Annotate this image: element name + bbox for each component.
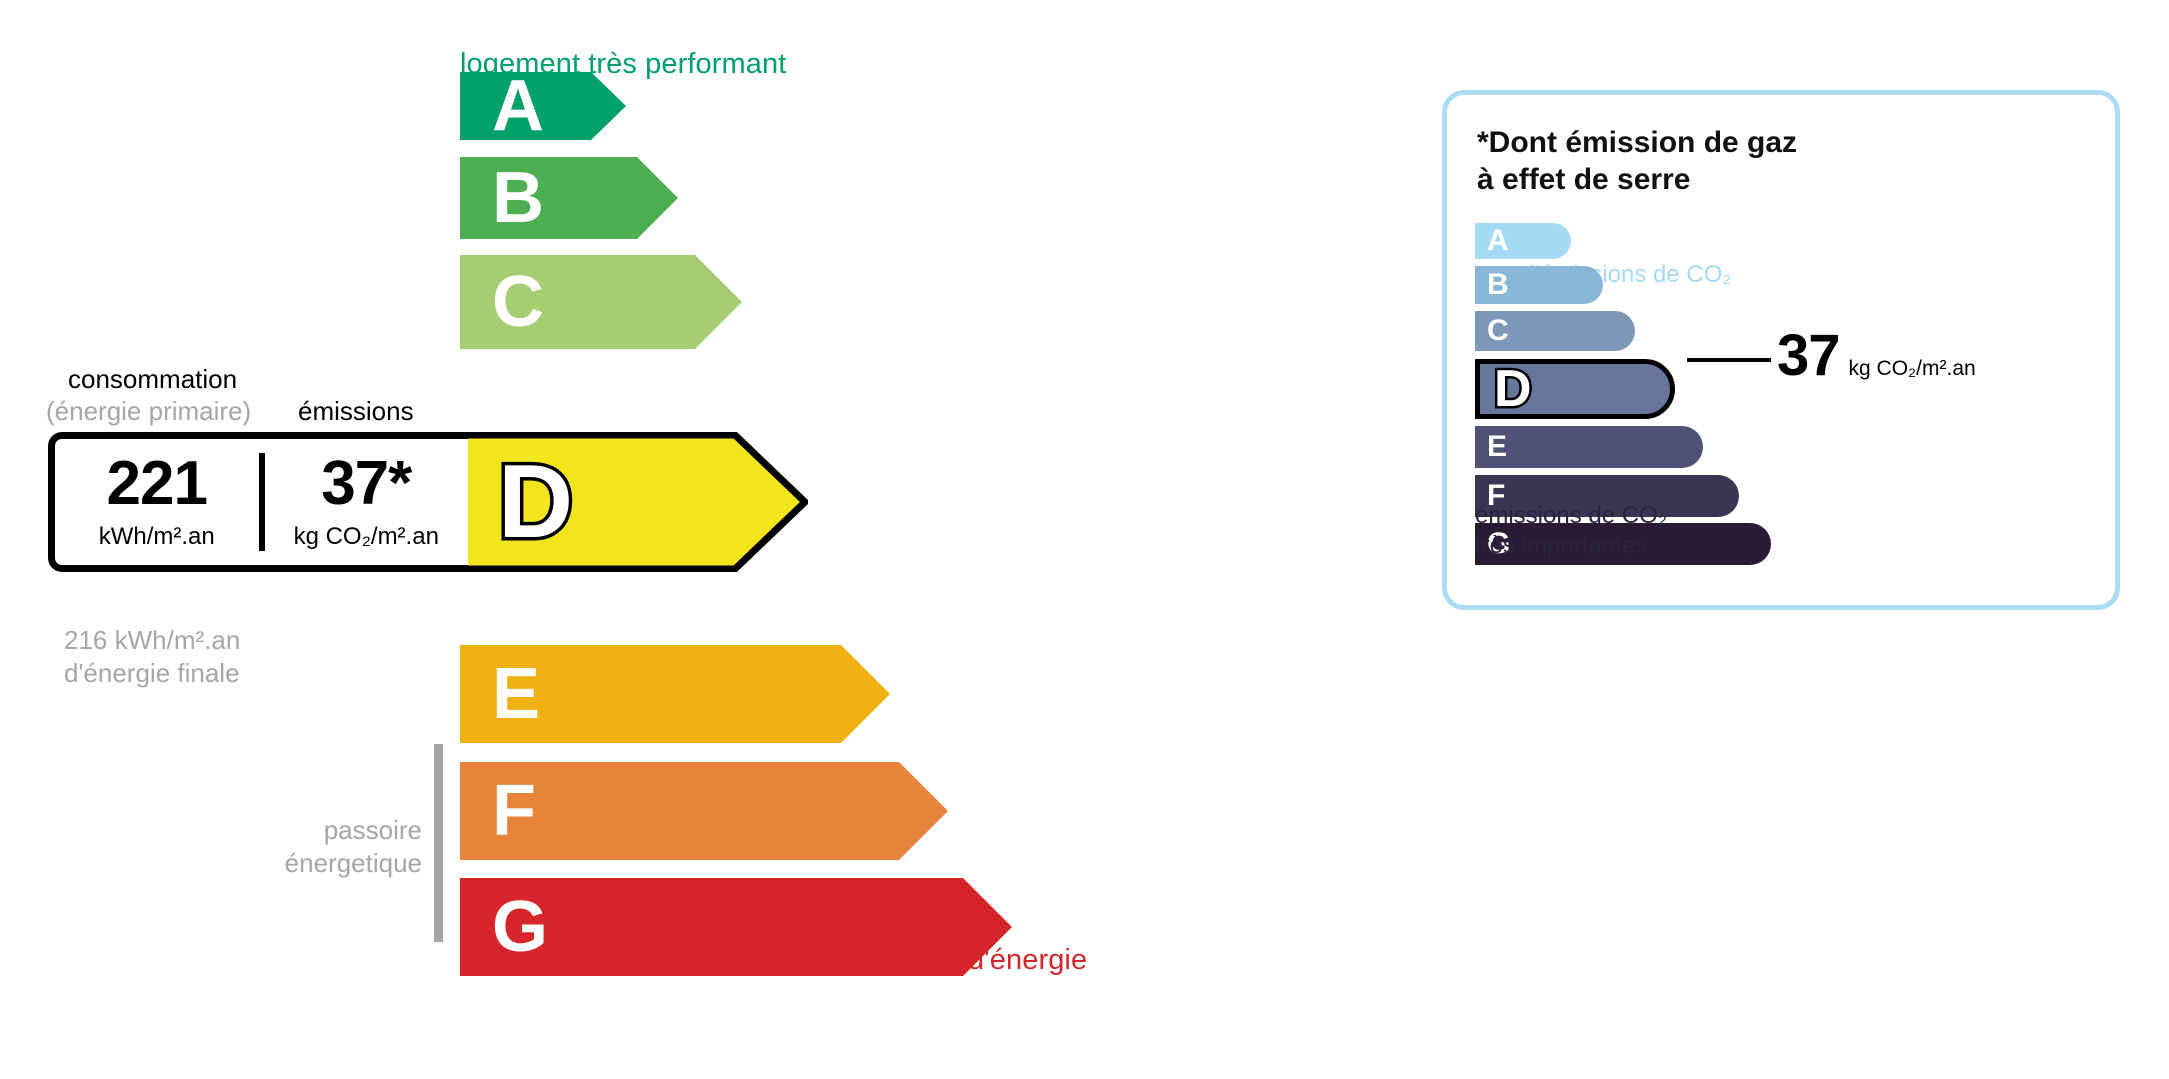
energy-performance-diagram: logement très performant A B [0, 0, 1400, 1079]
co2-letter-e: E [1487, 432, 1507, 462]
co2-letter-c: C [1487, 316, 1509, 346]
co2-letter-b: B [1487, 270, 1509, 300]
label-emissions: émissions [298, 396, 414, 427]
co2-callout-value: 37 [1777, 327, 1840, 385]
co2-bottom-caption: émissions de CO₂ très importantes [1475, 501, 1667, 561]
primary-energy-cell: 221 kWh/m².an [55, 439, 259, 565]
passoire-line1: passoire [200, 814, 422, 847]
energy-letter-a: A [492, 70, 544, 142]
co2-letter-d: D [1494, 363, 1532, 415]
energy-letter-d: D [498, 450, 573, 554]
energy-row-e[interactable]: E [460, 645, 890, 743]
primary-energy-value: 221 [107, 453, 207, 515]
co2-letter-a: A [1487, 226, 1509, 256]
emission-cell: 37* kg CO₂/m².an [265, 439, 469, 565]
energie-finale-line1: 216 kWh/m².an [64, 624, 240, 657]
co2-callout-unit: kg CO₂/m².an [1849, 357, 1976, 381]
co2-callout: 37 kg CO₂/m².an [1777, 327, 1976, 385]
passoire-bracket [434, 744, 443, 942]
energy-arrow-c: C [460, 255, 742, 349]
energy-arrow-d: D [460, 432, 808, 572]
co2-title-line1: *Dont émission de gaz [1477, 125, 1797, 162]
label-passoire-energetique: passoire énergetique [200, 814, 422, 881]
co2-row-b[interactable]: B [1475, 266, 1603, 304]
co2-bar-e: E [1475, 426, 1703, 468]
energy-arrow-a: A [460, 72, 626, 140]
energy-letter-b: B [492, 162, 544, 234]
co2-emissions-panel: *Dont émission de gaz à effet de serre p… [1442, 90, 2120, 610]
label-consommation: consommation [68, 364, 237, 395]
co2-row-d-active[interactable]: D [1475, 359, 1675, 419]
energy-bottom-caption: logement extrêmement consommateur d'éner… [460, 944, 1087, 977]
primary-energy-unit: kWh/m².an [99, 523, 215, 551]
co2-panel-title: *Dont émission de gaz à effet de serre [1477, 125, 1797, 198]
energy-letter-c: C [492, 266, 544, 338]
passoire-line2: énergetique [200, 847, 422, 880]
energy-arrow-e: E [460, 645, 890, 743]
emission-unit: kg CO₂/m².an [294, 523, 439, 551]
energie-finale-line2: d'énergie finale [64, 657, 240, 690]
energy-row-f[interactable]: F [460, 762, 948, 860]
consumption-value-box: 221 kWh/m².an 37* kg CO₂/m².an [48, 432, 468, 572]
co2-bottom-line2: très importantes [1475, 531, 1667, 561]
energy-arrow-f: F [460, 762, 948, 860]
energy-arrow-b: B [460, 157, 678, 239]
energy-row-b[interactable]: B [460, 157, 678, 239]
co2-row-e[interactable]: E [1475, 426, 1703, 468]
energy-row-c[interactable]: C [460, 255, 742, 349]
co2-bottom-line1: émissions de CO₂ [1475, 501, 1667, 531]
co2-title-line2: à effet de serre [1477, 162, 1797, 199]
co2-bar-c: C [1475, 311, 1635, 351]
label-energie-finale: 216 kWh/m².an d'énergie finale [64, 624, 240, 691]
energy-row-a[interactable]: A [460, 72, 626, 140]
energy-letter-e: E [492, 658, 540, 730]
co2-row-c[interactable]: C [1475, 311, 1635, 351]
co2-row-a[interactable]: A [1475, 223, 1571, 259]
co2-bar-d: D [1475, 359, 1675, 419]
co2-bar-b: B [1475, 266, 1603, 304]
co2-callout-leader-line [1687, 358, 1771, 362]
label-energie-primaire: (énergie primaire) [46, 396, 251, 427]
energy-letter-f: F [492, 775, 536, 847]
co2-bar-a: A [1475, 223, 1571, 259]
emission-value: 37* [321, 453, 411, 515]
energy-row-d-active[interactable]: D [460, 432, 808, 572]
